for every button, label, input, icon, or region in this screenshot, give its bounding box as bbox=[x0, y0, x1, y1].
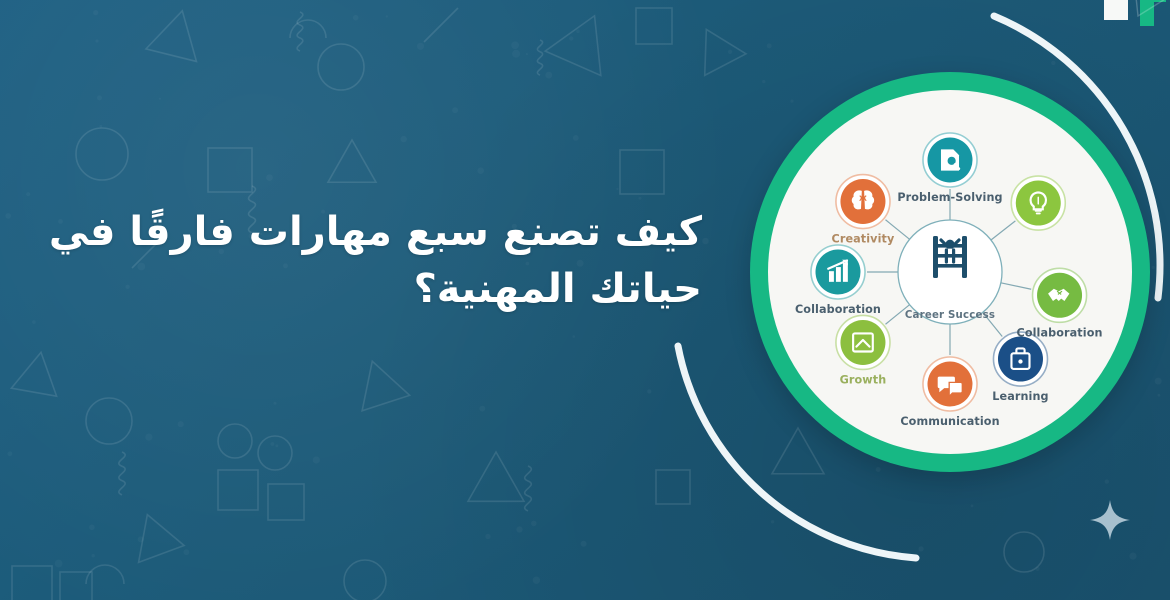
node-label-creativity: Creativity bbox=[832, 233, 895, 246]
spoke-collaboration-right bbox=[1001, 283, 1031, 289]
slide-canvas: كيف تصنع سبع مهارات فارقًا في حياتك المه… bbox=[0, 0, 1170, 600]
skills-wheel: Career Success Problem-SolvingCreativity… bbox=[768, 90, 1132, 454]
center-label: Career Success bbox=[905, 310, 995, 321]
node-disc bbox=[840, 320, 885, 365]
node-label-collaboration-right: Collaboration bbox=[1017, 326, 1103, 339]
node-growth[interactable]: Growth bbox=[836, 315, 890, 386]
node-idea[interactable] bbox=[1011, 176, 1065, 230]
page-title: كيف تصنع سبع مهارات فارقًا في حياتك المه… bbox=[34, 204, 702, 318]
career-success-infographic: Career Success Problem-SolvingCreativity… bbox=[664, 56, 1170, 562]
node-problem-solving[interactable]: Problem-Solving bbox=[897, 133, 1002, 204]
node-creativity[interactable]: Creativity bbox=[832, 175, 895, 246]
node-label-communication: Communication bbox=[900, 415, 999, 428]
node-label-collaboration-left: Collaboration bbox=[795, 303, 881, 316]
node-collaboration-left[interactable]: Collaboration bbox=[795, 245, 881, 316]
document-magnifier-icon bbox=[941, 149, 959, 170]
node-collaboration-right[interactable]: Collaboration bbox=[1017, 268, 1103, 339]
center-hub bbox=[898, 220, 1002, 324]
node-label-learning: Learning bbox=[992, 390, 1048, 403]
node-label-problem-solving: Problem-Solving bbox=[897, 191, 1002, 204]
node-learning[interactable]: Learning bbox=[992, 332, 1048, 403]
brain-icon bbox=[852, 190, 874, 209]
brand-logo[interactable] bbox=[1074, 0, 1170, 40]
sparkle-icon bbox=[1088, 498, 1132, 542]
node-communication[interactable]: Communication bbox=[900, 357, 999, 428]
node-disc bbox=[998, 337, 1043, 382]
spoke-idea bbox=[991, 221, 1015, 240]
node-label-growth: Growth bbox=[840, 373, 887, 386]
